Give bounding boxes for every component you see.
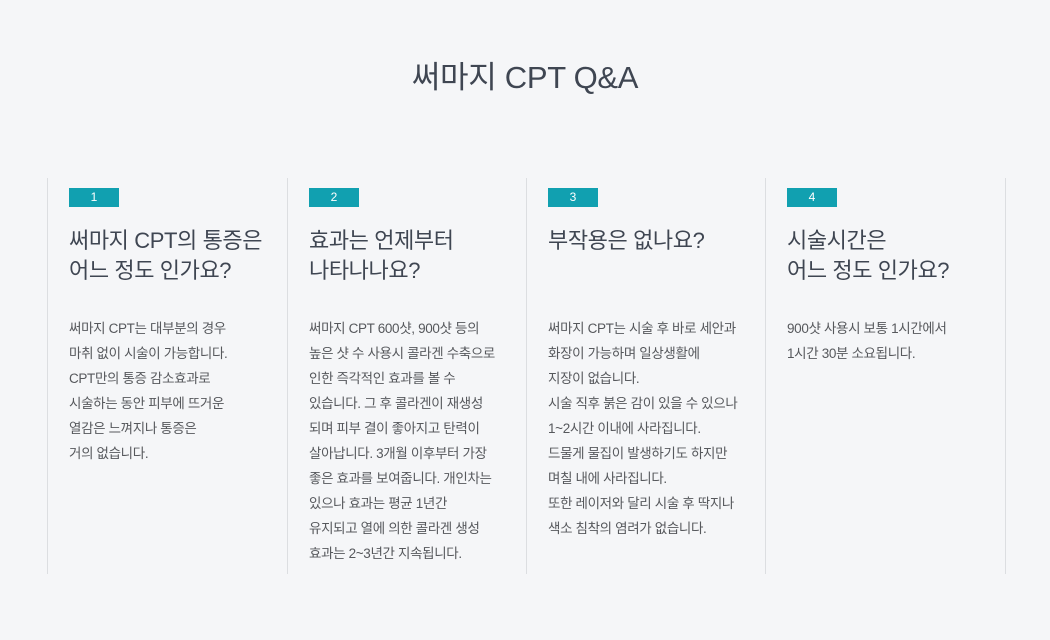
qa-column-3: 3 부작용은 없나요? 써마지 CPT는 시술 후 바로 세안과 화장이 가능하… (526, 178, 765, 574)
qa-question-4: 시술시간은 어느 정도 인가요? (787, 226, 986, 316)
qa-answer-3: 써마지 CPT는 시술 후 바로 세안과 화장이 가능하며 일상생활에 지장이 … (548, 316, 747, 541)
qa-number-badge-4: 4 (787, 188, 837, 207)
qa-column-1: 1 써마지 CPT의 통증은 어느 정도 인가요? 써마지 CPT는 대부분의 … (48, 178, 287, 574)
page-title: 써마지 CPT Q&A (0, 58, 1050, 98)
qa-question-1: 써마지 CPT의 통증은 어느 정도 인가요? (69, 226, 269, 316)
qa-question-2: 효과는 언제부터 나타나나요? (309, 226, 508, 316)
qa-column-2: 2 효과는 언제부터 나타나나요? 써마지 CPT 600샷, 900샷 등의 … (287, 178, 526, 574)
qa-columns-grid: 1 써마지 CPT의 통증은 어느 정도 인가요? 써마지 CPT는 대부분의 … (47, 178, 1006, 574)
qa-column-4: 4 시술시간은 어느 정도 인가요? 900샷 사용시 보통 1시간에서 1시간… (765, 178, 1004, 574)
qa-answer-2: 써마지 CPT 600샷, 900샷 등의 높은 샷 수 사용시 콜라겐 수축으… (309, 316, 508, 566)
qa-answer-1: 써마지 CPT는 대부분의 경우 마취 없이 시술이 가능합니다. CPT만의 … (69, 316, 269, 466)
qa-number-badge-2: 2 (309, 188, 359, 207)
qa-number-badge-3: 3 (548, 188, 598, 207)
qa-question-3: 부작용은 없나요? (548, 226, 747, 316)
qa-number-badge-1: 1 (69, 188, 119, 207)
qa-answer-4: 900샷 사용시 보통 1시간에서 1시간 30분 소요됩니다. (787, 316, 986, 366)
